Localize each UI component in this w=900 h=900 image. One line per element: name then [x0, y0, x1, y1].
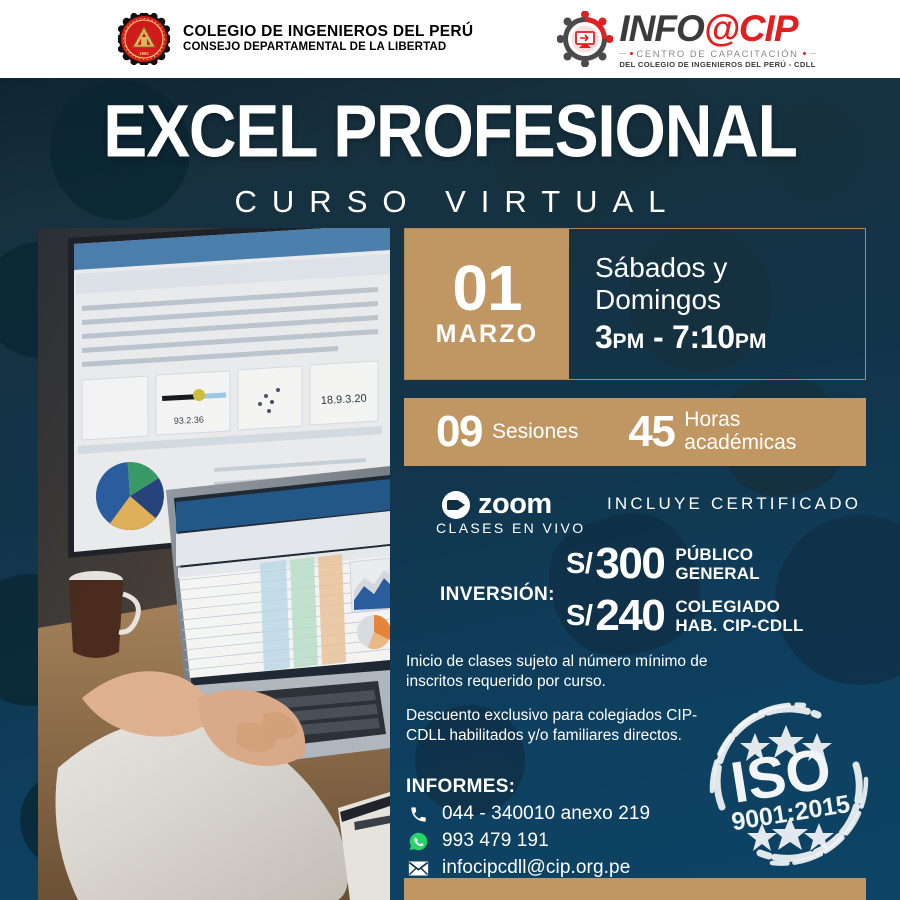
platform-row: zoom CLASES EN VIVO INCLUYE CERTIFICADO: [404, 488, 866, 540]
infocip-wordmark: INFO@CIP: [619, 10, 815, 47]
poster-root: 93.2.36 18.9.3.20: [0, 0, 900, 900]
time-end: 7:10: [672, 319, 735, 355]
sessions-label: Sesiones: [492, 421, 578, 444]
contact-phone-text: 044 - 340010 anexo 219: [442, 803, 650, 825]
svg-text:1962: 1962: [139, 51, 149, 56]
hours-label-line1: Horas: [684, 409, 796, 432]
course-photo: 93.2.36 18.9.3.20: [38, 228, 390, 900]
infocip-subtitle-1: CENTRO DE CAPACITACIÓN: [619, 48, 815, 59]
zoom-subtitle: CLASES EN VIVO: [436, 520, 586, 536]
price-currency: S/: [566, 600, 592, 633]
contact-email-text: infocipcdll@cip.org.pe: [442, 857, 630, 879]
contact-line-phone[interactable]: 044 - 340010 anexo 219: [406, 803, 650, 825]
price-desc-line1: COLEGIADO: [675, 597, 803, 616]
hours-count: 45: [628, 410, 674, 454]
header-bar: 1962 COLEGIO DE INGENIEROS DEL PERÚ CONS…: [0, 0, 900, 78]
infocip-subtitle-2: DEL COLEGIO DE INGENIEROS DEL PERÚ - CDL…: [619, 60, 815, 69]
zoom-logo: zoom: [442, 488, 552, 521]
date-month: MARZO: [436, 320, 539, 349]
infocip-word-at: @: [704, 8, 739, 49]
schedule-days-line1: Sábados y: [595, 252, 865, 283]
infocip-word-cip: CIP: [739, 8, 798, 49]
time-end-suffix: PM: [735, 330, 767, 353]
contact-title: INFORMES:: [406, 776, 650, 798]
schedule-panel: Sábados y Domingos 3PM - 7:10PM: [569, 229, 865, 379]
price-desc-line2: GENERAL: [675, 564, 760, 583]
sessions-count: 09: [436, 410, 482, 454]
infocip-word-info: INFO: [619, 8, 703, 49]
sessions-hours-bar: 09 Sesiones 45 Horas académicas: [404, 398, 866, 466]
note-discount: Descuento exclusivo para colegiados CIP-…: [406, 706, 736, 746]
schedule-time: 3PM - 7:10PM: [595, 319, 865, 356]
phone-icon: [406, 803, 430, 825]
price-item-general: S/ 300 PÚBLICO GENERAL: [566, 542, 760, 586]
notes-block: Inicio de clases sujeto al número mínimo…: [406, 652, 736, 747]
date-day: 01: [452, 259, 521, 318]
sessions-group: 09 Sesiones: [436, 410, 578, 454]
hours-label: Horas académicas: [684, 409, 796, 454]
note-minimum-enrollment: Inicio de clases sujeto al número mínimo…: [406, 652, 736, 692]
page-subtitle: CURSO VIRTUAL: [0, 184, 900, 220]
schedule-days-line2: Domingos: [595, 284, 865, 315]
contact-whatsapp-text: 993 479 191: [442, 830, 549, 852]
divider-right: [810, 53, 816, 54]
pricing-block: INVERSIÓN: S/ 300 PÚBLICO GENERAL S/ 240…: [404, 542, 874, 648]
cip-logo-text: COLEGIO DE INGENIEROS DEL PERÚ CONSEJO D…: [183, 23, 473, 55]
cip-line2: CONSEJO DEPARTAMENTAL DE LA LIBERTAD: [183, 41, 473, 55]
zoom-wordmark: zoom: [478, 488, 552, 521]
bullet-right-icon: [803, 52, 806, 55]
infocip-logo-block: INFO@CIP CENTRO DE CAPACITACIÓN DEL COLE…: [557, 10, 815, 69]
cip-logo-block: 1962 COLEGIO DE INGENIEROS DEL PERÚ CONS…: [118, 13, 473, 65]
infocip-logo-text: INFO@CIP CENTRO DE CAPACITACIÓN DEL COLE…: [619, 10, 815, 69]
infocip-gear-icon: [557, 11, 613, 67]
page-title: EXCEL PROFESIONAL: [0, 88, 900, 173]
date-time-box: 01 MARZO Sábados y Domingos 3PM - 7:10PM: [404, 228, 866, 380]
contact-line-email[interactable]: infocipcdll@cip.org.pe: [406, 857, 650, 879]
contact-line-whatsapp[interactable]: 993 479 191: [406, 830, 650, 852]
whatsapp-icon: [406, 830, 430, 852]
title-block: EXCEL PROFESIONAL CURSO VIRTUAL: [0, 88, 900, 220]
price-item-colegiado: S/ 240 COLEGIADO HAB. CIP-CDLL: [566, 594, 804, 638]
price-amount: 300: [595, 542, 664, 586]
divider-left: [619, 53, 625, 54]
cip-line1: COLEGIO DE INGENIEROS DEL PERÚ: [183, 23, 473, 41]
date-panel: 01 MARZO: [405, 229, 569, 379]
hours-group: 45 Horas académicas: [628, 409, 796, 454]
price-description: COLEGIADO HAB. CIP-CDLL: [675, 597, 803, 635]
infocip-subtitle-1-text: CENTRO DE CAPACITACIÓN: [637, 48, 799, 59]
price-currency: S/: [566, 548, 592, 581]
time-start-suffix: PM: [613, 330, 645, 353]
cip-seal-icon: 1962: [118, 13, 170, 65]
bullet-left-icon: [630, 52, 633, 55]
price-description: PÚBLICO GENERAL: [675, 545, 760, 583]
bottom-gold-bar: [404, 878, 866, 900]
certificate-note: INCLUYE CERTIFICADO: [607, 494, 861, 514]
time-start: 3: [595, 319, 613, 355]
time-dash: -: [653, 319, 663, 355]
investment-label: INVERSIÓN:: [440, 584, 555, 606]
contact-block: INFORMES: 044 - 340010 anexo 219 993 479…: [406, 776, 650, 879]
price-desc-line2: HAB. CIP-CDLL: [675, 616, 803, 635]
zoom-camera-icon: [442, 491, 470, 519]
hours-label-line2: académicas: [684, 432, 796, 455]
price-desc-line1: PÚBLICO: [675, 545, 760, 564]
price-amount: 240: [595, 594, 664, 638]
email-icon: [406, 857, 430, 879]
